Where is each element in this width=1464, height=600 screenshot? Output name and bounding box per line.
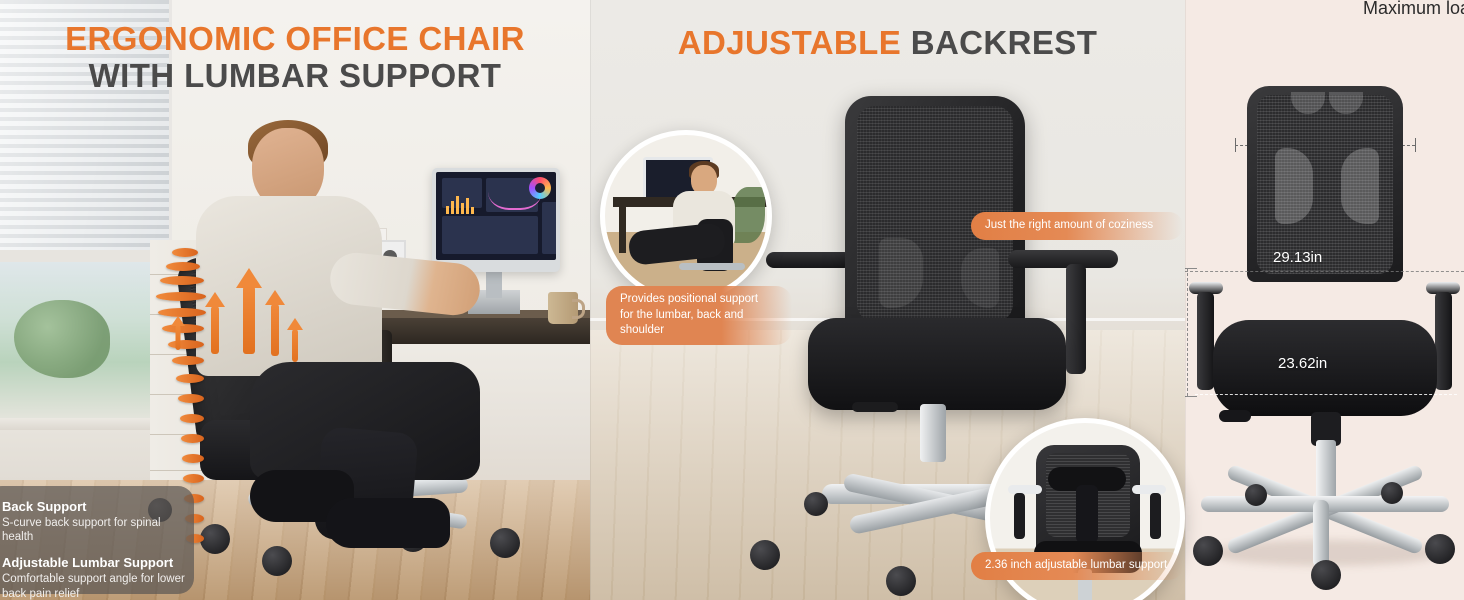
headline-primary: ERGONOMIC OFFICE CHAIR	[0, 22, 590, 57]
chair-armrest-right-mid	[1008, 250, 1118, 268]
chair-arm-post-right-right	[1435, 292, 1452, 390]
dimension-label-23-62in: 23.62in	[1278, 355, 1327, 372]
support-arrow-icon	[266, 290, 284, 356]
chair-height-lever	[852, 402, 898, 412]
headline-word-adjustable: ADJUSTABLE	[678, 24, 901, 61]
inset-plant	[731, 187, 765, 243]
panel-right-dimensions: Maximum loa 18.5in	[1185, 0, 1464, 600]
inset-lumbar-spine	[1076, 485, 1098, 543]
chair-height-lever-right	[1219, 410, 1251, 422]
chair-backrest-right	[1247, 86, 1403, 282]
inset-desk-leg	[619, 207, 626, 253]
chair-arm-post-left-right	[1197, 292, 1214, 390]
callout-coziness: Just the right amount of coziness	[971, 212, 1183, 240]
inset-arm-post-left	[1014, 493, 1025, 539]
dimension-line-back-height	[1185, 271, 1464, 272]
headline-secondary: WITH LUMBAR SUPPORT	[0, 57, 590, 95]
middle-headline-block: ADJUSTABLE BACKREST	[590, 24, 1185, 62]
panel-divider-2	[1185, 0, 1186, 600]
caster-wheel	[750, 540, 780, 570]
left-headline-block: ERGONOMIC OFFICE CHAIR WITH LUMBAR SUPPO…	[0, 22, 590, 95]
inset-armrest-left	[1008, 485, 1042, 494]
caster-wheel	[804, 492, 828, 516]
callout-line2: for the lumbar, back and shoulder	[620, 308, 778, 339]
caption-item2-desc: Comfortable support angle for lower back…	[2, 572, 194, 600]
panel-left-ergonomic: ERGONOMIC OFFICE CHAIR WITH LUMBAR SUPPO…	[0, 0, 590, 600]
inset-arm-post-right	[1150, 493, 1161, 539]
caster-wheel	[1311, 560, 1341, 590]
dimension-vcap-top	[1185, 268, 1197, 269]
tree-foliage	[14, 300, 110, 378]
panel-divider-1	[590, 0, 591, 600]
caster-wheel	[1193, 536, 1223, 566]
support-arrow-icon	[238, 268, 260, 354]
product-image-stage: ERGONOMIC OFFICE CHAIR WITH LUMBAR SUPPO…	[0, 0, 1464, 600]
caster-wheel	[1245, 484, 1267, 506]
chair-armrest-left-mid	[766, 252, 852, 268]
headline-word-backrest: BACKREST	[911, 24, 1098, 61]
feature-caption-box: Back Support S-curve back support for sp…	[0, 486, 194, 594]
desktop-monitor	[432, 168, 560, 272]
dimension-cap-right	[1415, 138, 1416, 152]
support-arrow-icon	[206, 292, 224, 354]
window-glass	[0, 262, 160, 424]
headline-adjustable-backrest: ADJUSTABLE BACKREST	[590, 24, 1185, 62]
lumbar-wing-right	[1341, 148, 1379, 224]
chair-arm-post-right-mid	[1066, 264, 1086, 374]
chart-bars-icon	[446, 194, 474, 214]
support-arrow-icon	[288, 318, 302, 362]
coffee-mug	[548, 292, 578, 324]
support-arrow-icon	[172, 316, 184, 350]
caster-wheel	[262, 546, 292, 576]
caster-wheel	[490, 528, 520, 558]
callout-lumbar-depth: 2.36 inch adjustable lumbar support	[971, 552, 1183, 580]
inset-chair-base	[679, 263, 745, 270]
inset-armrest-right	[1132, 485, 1166, 494]
caption-item1-title: Back Support	[2, 498, 194, 516]
dimension-line-seat-width	[1195, 394, 1457, 395]
chair-seat-mid	[808, 318, 1066, 410]
monitor-screen	[436, 172, 556, 260]
dimension-cap-left	[1235, 138, 1236, 152]
chair-gas-cylinder-mid	[920, 404, 946, 462]
chair-base-spoke-front	[1313, 500, 1329, 568]
dimension-label-29-13in: 29.13in	[1273, 249, 1322, 266]
caster-wheel	[886, 566, 916, 596]
caption-item2-title: Adjustable Lumbar Support	[2, 554, 194, 572]
dimension-line-vertical	[1187, 268, 1188, 396]
dimension-vcap-bottom	[1185, 396, 1197, 397]
monitor-neck	[486, 268, 502, 298]
caption-item1-desc: S-curve back support for spinal health	[2, 516, 194, 546]
max-load-label: Maximum loa	[1363, 0, 1464, 19]
callout-positional-support: Provides positional support for the lumb…	[606, 286, 792, 345]
callout-line1: Provides positional support	[620, 292, 778, 308]
lumbar-wing-left	[1275, 148, 1313, 224]
caster-wheel	[1425, 534, 1455, 564]
person-shoe	[326, 498, 450, 548]
caster-wheel	[1381, 482, 1403, 504]
inset-reclining-man	[600, 130, 772, 302]
